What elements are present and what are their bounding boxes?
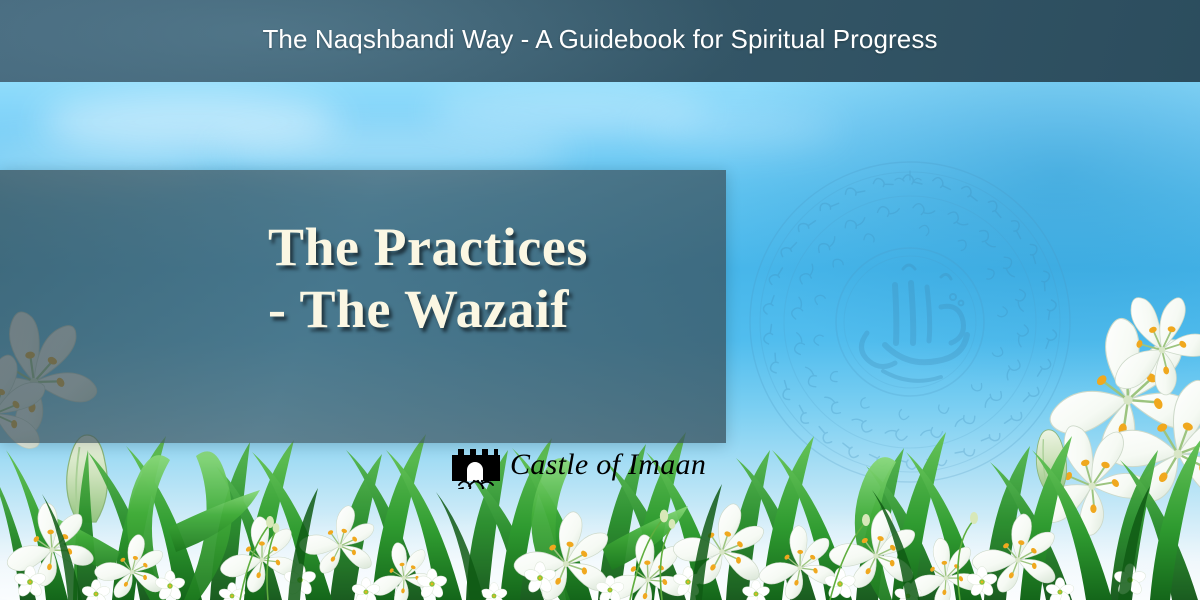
slide-heading: The Practices - The Wazaif xyxy=(268,216,708,340)
header-bar: The Naqshbandi Way - A Guidebook for Spi… xyxy=(0,0,1200,82)
castle-icon xyxy=(450,441,500,489)
slide-canvas: The Naqshbandi Way - A Guidebook for Spi… xyxy=(0,0,1200,600)
book-title: The Naqshbandi Way - A Guidebook for Spi… xyxy=(0,0,1200,82)
brand-name: Castle of Imaan xyxy=(510,449,706,481)
title-overlay-panel: The Practices - The Wazaif xyxy=(0,170,726,443)
brand-logo-group[interactable]: Castle of Imaan xyxy=(450,441,706,489)
